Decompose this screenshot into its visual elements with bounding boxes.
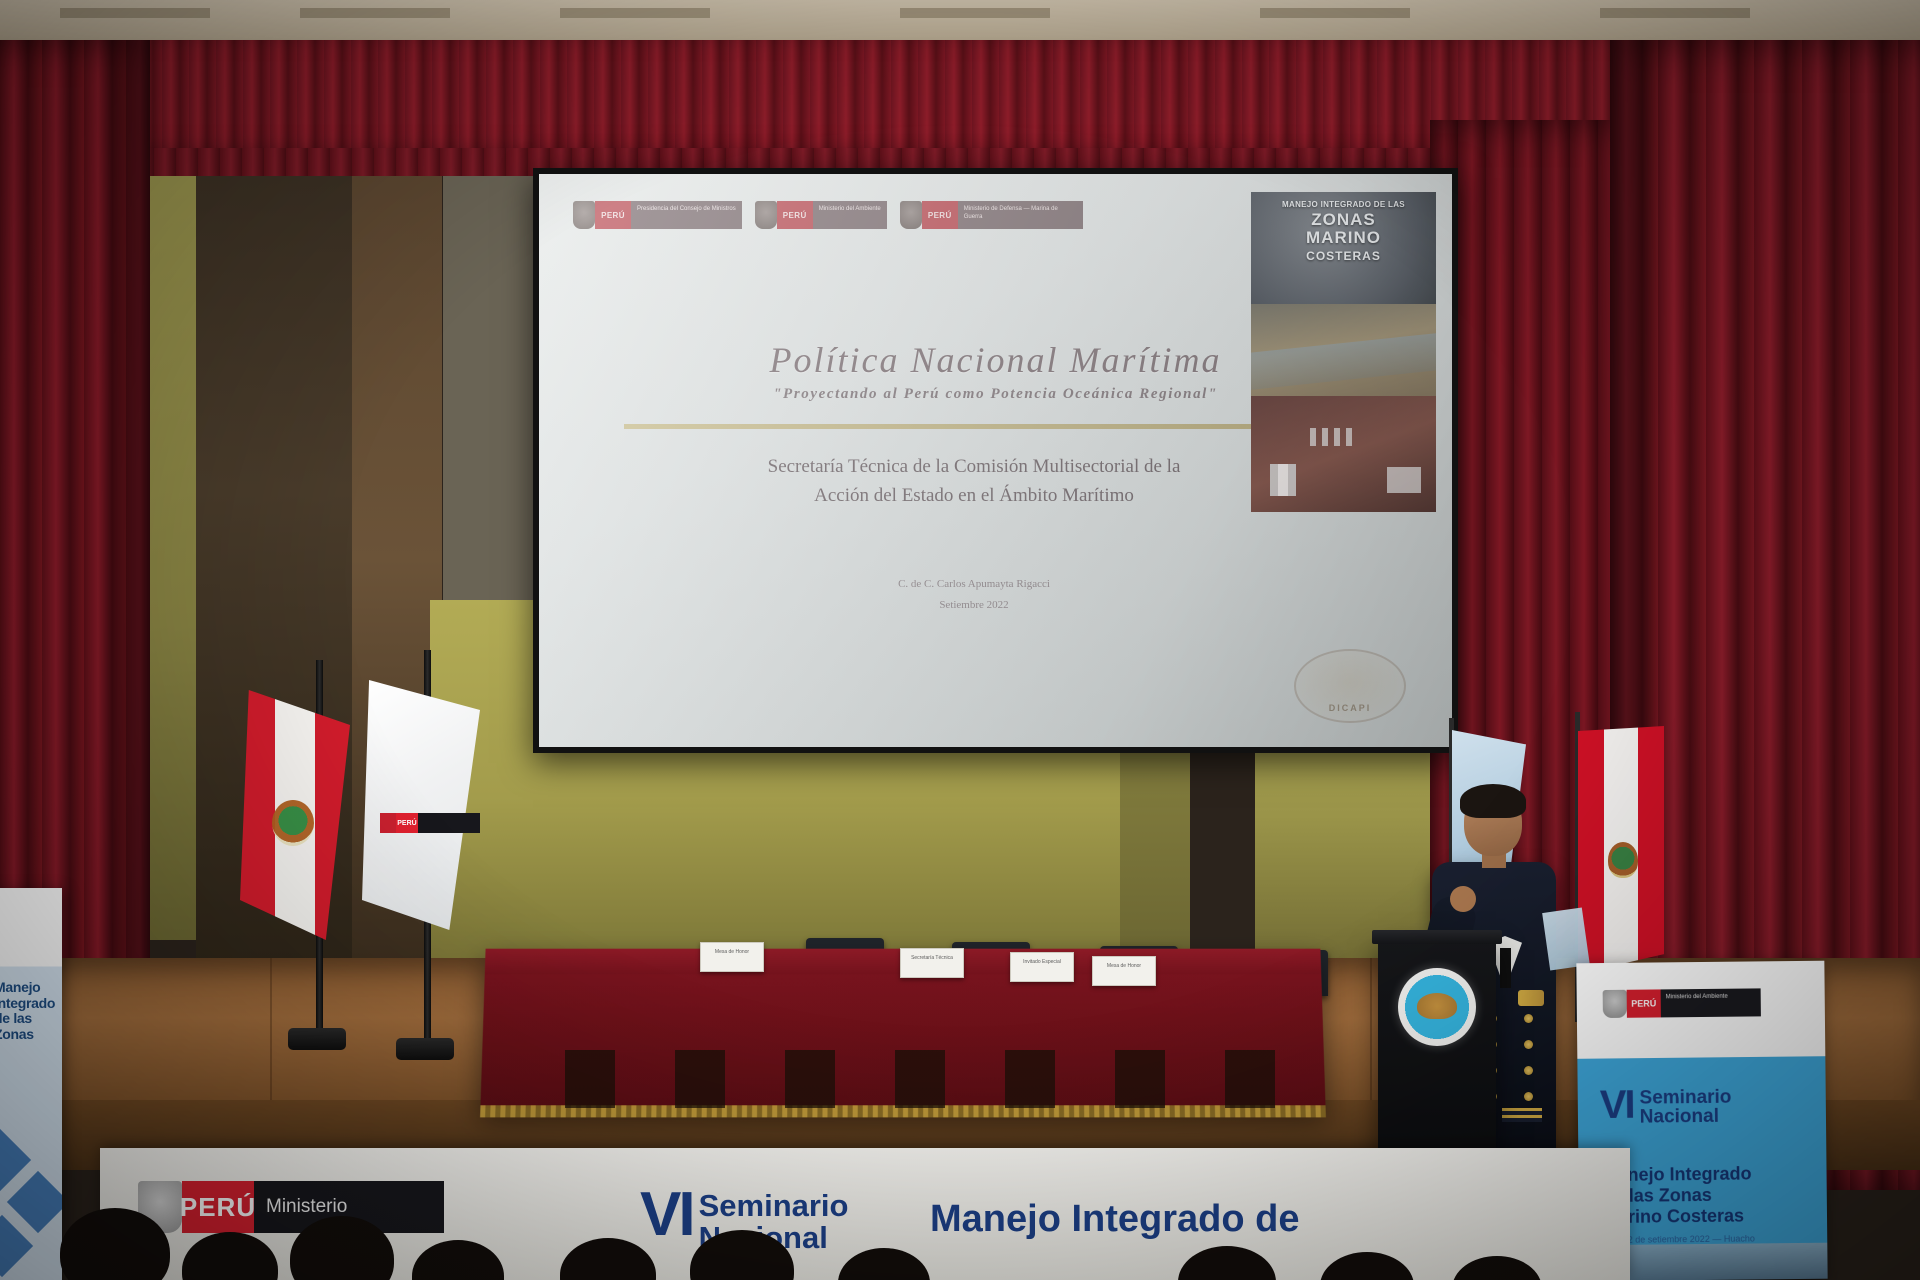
banner-left-line-3: de las bbox=[0, 1011, 62, 1027]
ministry-bar bbox=[418, 813, 480, 833]
ministry-name-2: Ministerio del Ambiente bbox=[813, 201, 887, 229]
flag-base-left-1 bbox=[288, 1028, 346, 1050]
peru-wordmark: PERÚ bbox=[396, 813, 418, 833]
banner-left-graphic bbox=[0, 1120, 60, 1270]
peru-wordmark: PERÚ bbox=[595, 201, 631, 229]
ministry-logo-2: PERÚ Ministerio del Ambiente bbox=[755, 200, 887, 230]
flag-base-left-2 bbox=[396, 1038, 454, 1060]
speaker-tie bbox=[1500, 948, 1511, 988]
banner-right-nacional: Nacional bbox=[1640, 1107, 1732, 1127]
banner-right-seminario: Seminario bbox=[1639, 1088, 1731, 1108]
banner-right-body-line-2: de las Zonas bbox=[1603, 1184, 1813, 1207]
uniform-button bbox=[1524, 1040, 1533, 1049]
peru-crest-icon bbox=[900, 201, 922, 229]
banner-right-body-line-1: Manejo Integrado bbox=[1602, 1163, 1812, 1186]
uniform-button bbox=[1524, 1014, 1533, 1023]
banner-left-line-4: Zonas bbox=[0, 1027, 62, 1043]
podium-top-surface bbox=[1372, 930, 1502, 944]
collage-heading-costeras: COSTERAS bbox=[1251, 248, 1436, 264]
speaker-insignia bbox=[1518, 990, 1544, 1006]
peru-wordmark: PERÚ bbox=[182, 1181, 254, 1233]
slide-body-line-1: Secretaría Técnica de la Comisión Multis… bbox=[609, 452, 1339, 481]
speaker-hand bbox=[1450, 886, 1476, 912]
stage-skirt-subtitle: Manejo Integrado de bbox=[930, 1198, 1299, 1241]
nameplate: Mesa de Honor bbox=[700, 942, 764, 972]
peru-wordmark: PERÚ bbox=[777, 201, 813, 229]
flaglets-decoration bbox=[1310, 428, 1354, 446]
speaker-hair bbox=[1460, 784, 1526, 818]
banner-right-body: Manejo Integrado de las Zonas Marino Cos… bbox=[1602, 1163, 1813, 1229]
banner-left-line-1: Manejo bbox=[0, 980, 62, 996]
banner-left: Manejo Integrado de las Zonas bbox=[0, 888, 62, 1280]
banner-right-title: VI Seminario Nacional bbox=[1600, 1088, 1732, 1128]
uniform-cuff-stripes bbox=[1502, 1108, 1542, 1122]
peru-wordmark: PERÚ bbox=[1627, 989, 1661, 1017]
collage-photo-top: MANEJO INTEGRADO DE LAS ZONAS MARINO COS… bbox=[1251, 192, 1436, 304]
stage-skirt-logo: PERÚ Ministerio bbox=[138, 1178, 444, 1236]
nameplate: Mesa de Honor bbox=[1092, 956, 1156, 986]
slide-logo-bar: PERÚ Presidencia del Consejo de Ministro… bbox=[573, 200, 1083, 230]
auditorium-scene: PERÚ Presidencia del Consejo de Ministro… bbox=[0, 0, 1920, 1280]
podium-emblem-icon bbox=[1398, 968, 1476, 1046]
flag-institutional-logo: PERÚ bbox=[380, 812, 480, 834]
peru-crest-icon bbox=[573, 201, 595, 229]
slide-institutional-seal: DICAPI bbox=[1294, 649, 1406, 723]
slide-body-text: Secretaría Técnica de la Comisión Multis… bbox=[609, 452, 1339, 511]
slide-body-line-2: Acción del Estado en el Ámbito Marítimo bbox=[609, 481, 1339, 510]
ministry-logo-1: PERÚ Presidencia del Consejo de Ministro… bbox=[573, 200, 742, 230]
projected-slide: PERÚ Presidencia del Consejo de Ministro… bbox=[539, 174, 1452, 747]
stage-skirt-numeral: VI bbox=[640, 1190, 693, 1240]
collage-photo-bottom bbox=[1251, 396, 1436, 512]
banner-left-header bbox=[0, 888, 62, 962]
nameplate: Invitado Especial bbox=[1010, 952, 1074, 982]
peru-crest-icon bbox=[755, 201, 777, 229]
slide-credit: C. de C. Carlos Apumayta Rigacci Setiemb… bbox=[609, 574, 1339, 616]
speaker-papers bbox=[1542, 907, 1590, 970]
stage-skirt-seminario: Seminario bbox=[699, 1190, 849, 1222]
collage-photo-middle bbox=[1251, 304, 1436, 396]
collage-heading: MANEJO INTEGRADO DE LAS ZONAS MARINO COS… bbox=[1251, 200, 1436, 264]
slide-photo-collage: MANEJO INTEGRADO DE LAS ZONAS MARINO COS… bbox=[1251, 192, 1436, 512]
banner-right-logos: PERÚ Ministerio del Ambiente bbox=[1603, 987, 1761, 1019]
collage-badge bbox=[1387, 467, 1421, 493]
slide-date: Setiembre 2022 bbox=[609, 595, 1339, 616]
collage-heading-zonas: ZONAS bbox=[1251, 211, 1436, 230]
ministry-name-1: Presidencia del Consejo de Ministros bbox=[631, 201, 742, 229]
banner-right-numeral: VI bbox=[1600, 1089, 1634, 1122]
ministry-logo-3: PERÚ Ministerio de Defensa — Marina de G… bbox=[900, 200, 1083, 230]
uniform-button bbox=[1524, 1066, 1533, 1075]
banner-right-body-line-3: Marino Costeras bbox=[1603, 1205, 1813, 1228]
banner-left-line-2: Integrado bbox=[0, 996, 62, 1012]
collage-heading-marino: MARINO bbox=[1251, 229, 1436, 248]
peru-coat-of-arms-icon bbox=[272, 800, 314, 846]
peru-crest-icon bbox=[1603, 990, 1627, 1018]
crest-mark bbox=[380, 813, 396, 833]
peru-wordmark: PERÚ bbox=[922, 201, 958, 229]
nameplate: Secretaría Técnica bbox=[900, 948, 964, 978]
banner-left-text: Manejo Integrado de las Zonas bbox=[0, 980, 62, 1043]
peru-coat-of-arms-icon bbox=[1608, 842, 1638, 878]
peru-flag-small-icon bbox=[1270, 464, 1296, 496]
ministry-name-3: Ministerio de Defensa — Marina de Guerra bbox=[958, 201, 1083, 229]
slide-presenter: C. de C. Carlos Apumayta Rigacci bbox=[609, 574, 1339, 595]
ministry-name: Ministerio del Ambiente bbox=[1661, 988, 1761, 1017]
head-table-shadow bbox=[505, 1050, 1305, 1108]
uniform-button bbox=[1524, 1092, 1533, 1101]
slide-divider-rule bbox=[624, 424, 1324, 429]
slide-seal-label: DICAPI bbox=[1329, 703, 1372, 713]
projection-screen-frame: PERÚ Presidencia del Consejo de Ministro… bbox=[533, 168, 1458, 753]
